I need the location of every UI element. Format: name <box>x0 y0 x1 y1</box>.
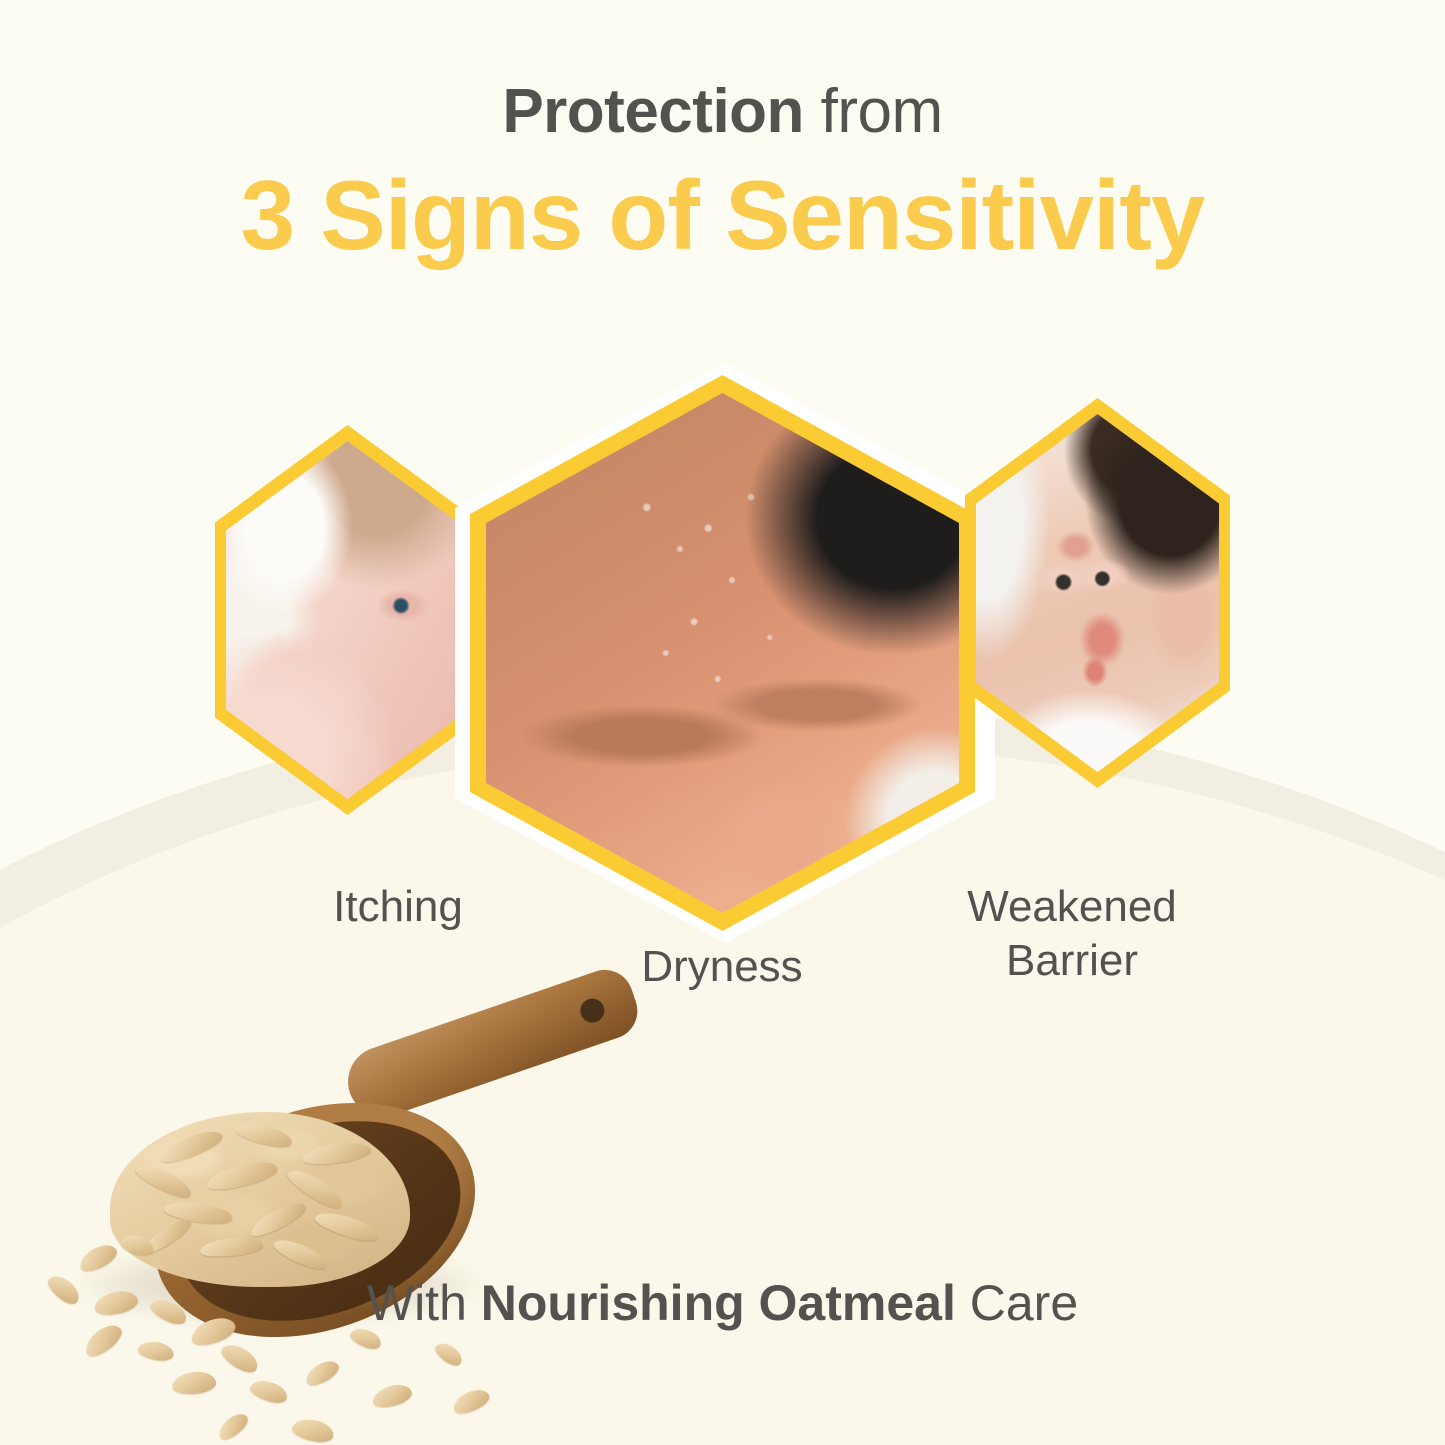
headline-line-2: 3 Signs of Sensitivity <box>0 156 1445 274</box>
caption-dryness: Dryness <box>552 940 892 994</box>
page-title: Protection from 3 Signs of Sensitivity <box>0 74 1445 274</box>
hexagon-barrier-border <box>965 398 1230 788</box>
loose-oat-flake <box>218 1339 263 1377</box>
headline-from-word: from <box>804 77 943 146</box>
hexagon-itching-photo-frame <box>226 441 469 799</box>
hexagon-itching-border <box>215 425 480 815</box>
loose-oat-flake <box>171 1370 217 1396</box>
loose-oat-flake <box>137 1339 176 1363</box>
loose-oat-flake <box>290 1416 335 1445</box>
tagline-suffix: Care <box>956 1275 1078 1331</box>
loose-oat-flake <box>450 1385 492 1418</box>
tagline-emphasis: Nourishing Oatmeal <box>481 1275 956 1331</box>
hexagon-barrier-photo-frame <box>976 414 1219 772</box>
loose-oat-flake <box>432 1339 466 1370</box>
headline-protection-word: Protection <box>502 77 804 146</box>
headline-line-1: Protection from <box>0 74 1445 150</box>
dryness-photo <box>486 393 959 913</box>
caption-weakened-barrier: Weakened Barrier <box>872 880 1272 988</box>
loose-oat-flake <box>370 1381 414 1411</box>
oatmeal-spoon-image <box>20 1030 700 1445</box>
loose-oat-flake <box>248 1377 290 1407</box>
hexagon-dryness-photo-frame <box>486 393 959 913</box>
caption-itching: Itching <box>228 880 568 934</box>
itching-photo <box>226 441 469 799</box>
bottom-tagline: With Nourishing Oatmeal Care <box>0 1272 1445 1334</box>
barrier-photo <box>976 414 1219 772</box>
tagline-prefix: With <box>367 1275 481 1331</box>
loose-oat-flake <box>302 1356 342 1390</box>
loose-oat-flake <box>215 1409 252 1444</box>
